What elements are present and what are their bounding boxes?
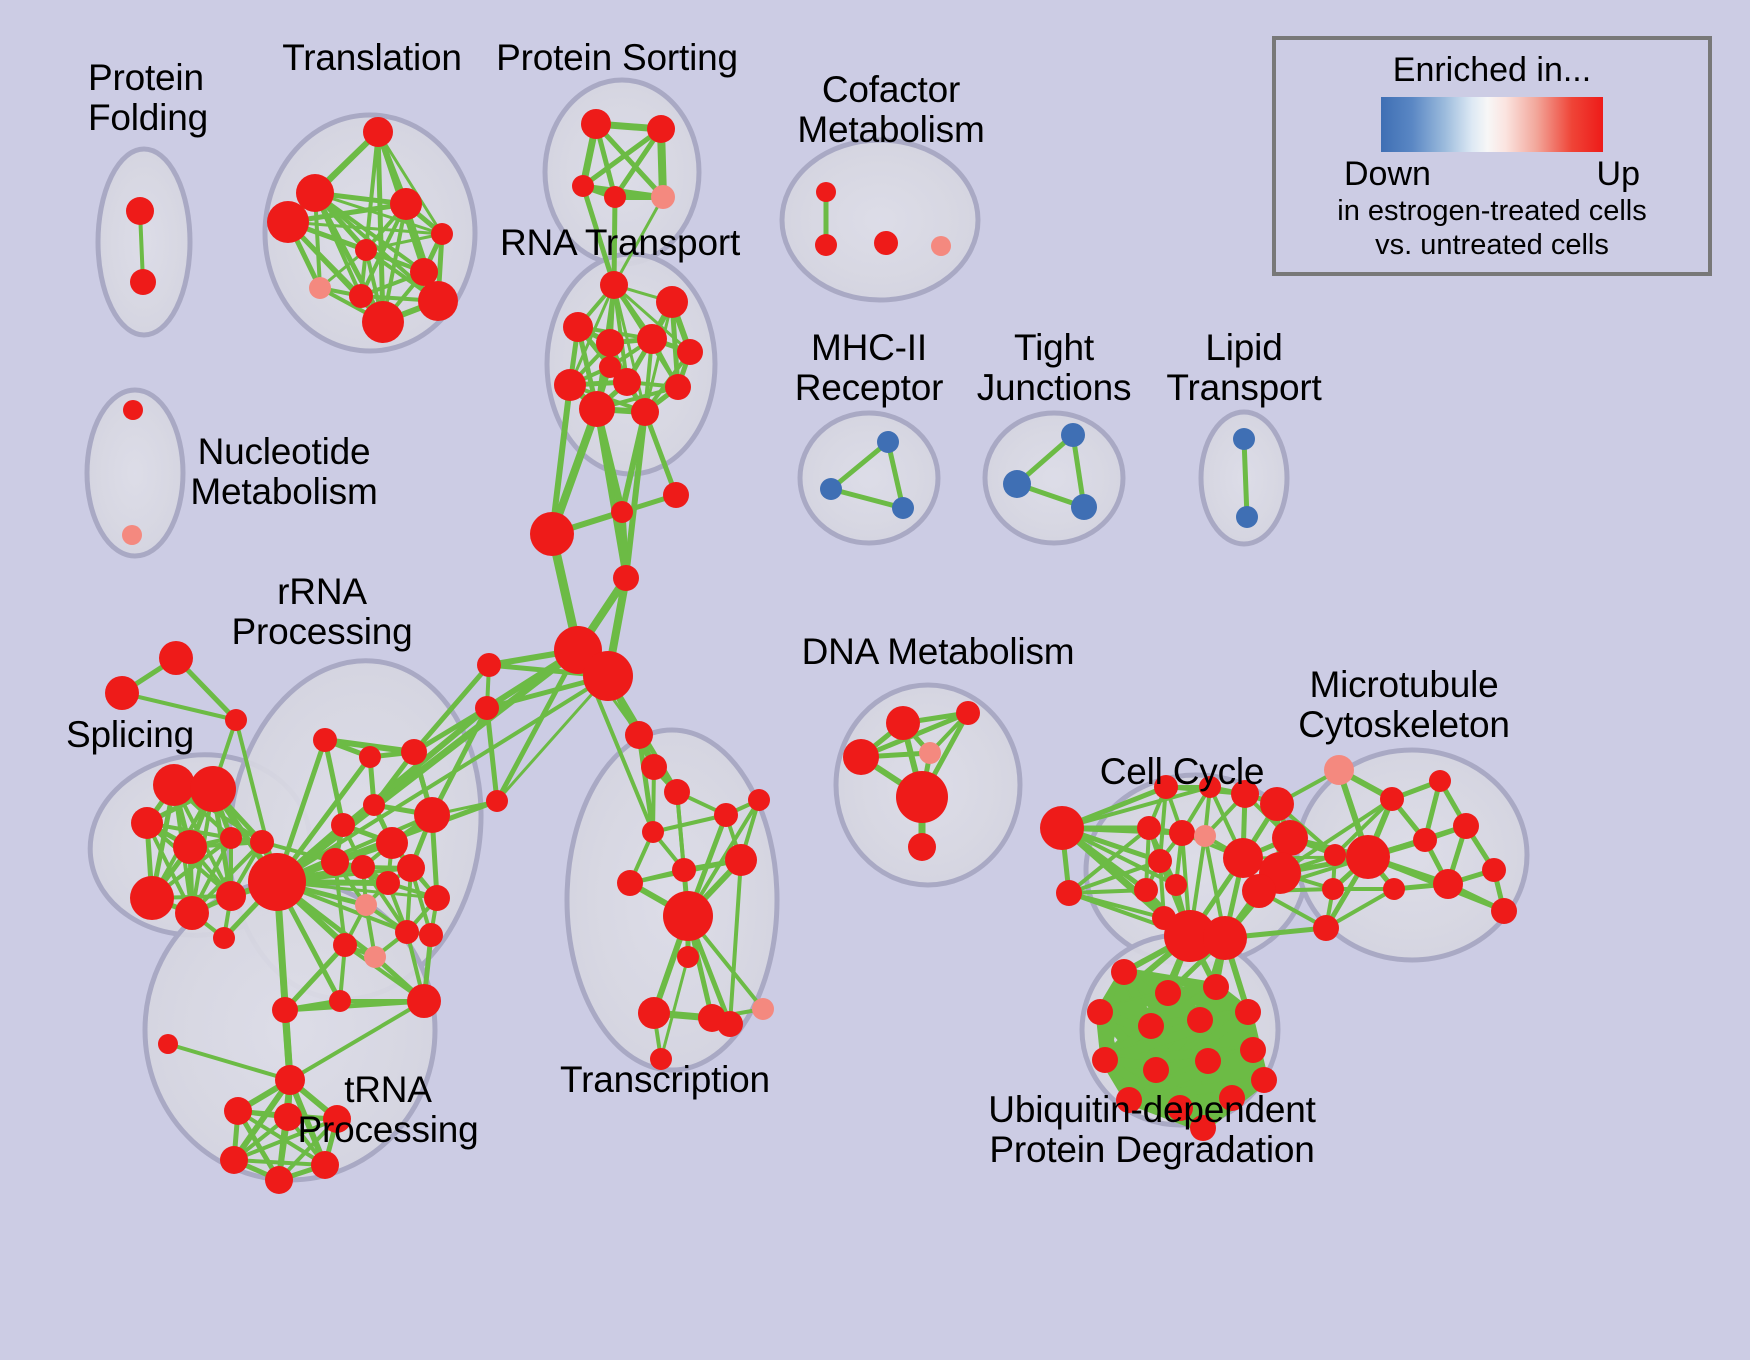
network-node[interactable] <box>820 478 842 500</box>
cluster-label-trna-processing: tRNAProcessing <box>297 1070 478 1150</box>
network-node[interactable] <box>611 501 633 523</box>
network-node[interactable] <box>1092 1047 1118 1073</box>
network-node[interactable] <box>1260 787 1294 821</box>
network-node[interactable] <box>122 525 142 545</box>
network-node[interactable] <box>874 231 898 255</box>
pathway-network-figure: ProteinFoldingTranslationProtein Sorting… <box>0 0 1750 1360</box>
network-node[interactable] <box>224 1097 252 1125</box>
network-node[interactable] <box>265 1166 293 1194</box>
network-node[interactable] <box>530 512 574 556</box>
cluster-label-line: Junctions <box>977 368 1132 408</box>
network-node[interactable] <box>725 844 757 876</box>
legend-subtitle-line-2: vs. untreated cells <box>1375 229 1609 262</box>
cluster-label-protein-sorting: Protein Sorting <box>496 38 738 78</box>
network-node[interactable] <box>1111 959 1137 985</box>
network-node[interactable] <box>123 400 143 420</box>
network-node[interactable] <box>364 946 386 968</box>
network-node[interactable] <box>126 197 154 225</box>
network-node[interactable] <box>1134 878 1158 902</box>
network-node[interactable] <box>1346 835 1390 879</box>
network-node[interactable] <box>641 754 667 780</box>
cluster-label-line: Nucleotide <box>190 432 377 472</box>
cluster-label-line: Splicing <box>66 715 194 755</box>
network-node[interactable] <box>877 431 899 453</box>
network-node[interactable] <box>677 339 703 365</box>
network-node[interactable] <box>1203 974 1229 1000</box>
network-node[interactable] <box>1453 813 1479 839</box>
network-node[interactable] <box>1383 878 1405 900</box>
network-node[interactable] <box>572 175 594 197</box>
network-node[interactable] <box>1003 470 1031 498</box>
network-node[interactable] <box>581 109 611 139</box>
network-node[interactable] <box>349 284 373 308</box>
network-node[interactable] <box>672 858 696 882</box>
cluster-label-line: Metabolism <box>797 110 984 150</box>
cluster-label-line: Lipid <box>1166 328 1321 368</box>
network-node[interactable] <box>656 286 688 318</box>
network-node[interactable] <box>1242 874 1276 908</box>
network-node[interactable] <box>1194 825 1216 847</box>
network-node[interactable] <box>613 565 639 591</box>
cluster-label-cell-cycle: Cell Cycle <box>1100 752 1265 792</box>
network-node[interactable] <box>1143 1057 1169 1083</box>
network-node[interactable] <box>267 201 309 243</box>
network-node[interactable] <box>175 896 209 930</box>
network-node[interactable] <box>698 1004 726 1032</box>
network-node[interactable] <box>1482 858 1506 882</box>
network-node[interactable] <box>1429 770 1451 792</box>
cluster-label-line: Ubiquitin-dependent <box>988 1090 1315 1130</box>
network-node[interactable] <box>1223 838 1263 878</box>
network-node[interactable] <box>956 701 980 725</box>
network-node[interactable] <box>1071 494 1097 520</box>
network-node[interactable] <box>919 742 941 764</box>
network-node[interactable] <box>213 927 235 949</box>
cluster-label-line: Translation <box>282 38 461 78</box>
network-node[interactable] <box>1061 423 1085 447</box>
cluster-label-line: Metabolism <box>190 472 377 512</box>
network-node[interactable] <box>362 301 404 343</box>
network-node[interactable] <box>351 855 375 879</box>
network-node[interactable] <box>1433 869 1463 899</box>
network-node[interactable] <box>563 312 593 342</box>
network-node[interactable] <box>376 871 400 895</box>
network-node[interactable] <box>1203 916 1247 960</box>
cofactor-ellipse <box>782 140 978 300</box>
network-node[interactable] <box>130 876 174 920</box>
network-node[interactable] <box>250 830 274 854</box>
network-node[interactable] <box>225 709 247 731</box>
network-node[interactable] <box>647 115 675 143</box>
network-node[interactable] <box>1240 1037 1266 1063</box>
network-node[interactable] <box>1138 1013 1164 1039</box>
network-node[interactable] <box>475 696 499 720</box>
network-node[interactable] <box>363 117 393 147</box>
cluster-label-line: Microtubule <box>1298 665 1510 705</box>
network-node[interactable] <box>604 186 626 208</box>
cluster-label-protein-folding: ProteinFolding <box>88 58 208 138</box>
network-node[interactable] <box>625 721 653 749</box>
network-node[interactable] <box>1165 874 1187 896</box>
network-edge <box>1244 439 1247 517</box>
cluster-label-dna-metabolism: DNA Metabolism <box>802 632 1075 672</box>
network-node[interactable] <box>363 794 385 816</box>
network-node[interactable] <box>886 706 920 740</box>
network-node[interactable] <box>752 998 774 1020</box>
network-node[interactable] <box>892 497 914 519</box>
network-node[interactable] <box>1324 755 1354 785</box>
network-node[interactable] <box>1413 828 1437 852</box>
cluster-label-line: MHC-II <box>795 328 944 368</box>
network-node[interactable] <box>1148 849 1172 873</box>
network-node[interactable] <box>220 1146 248 1174</box>
cluster-label-tight-junctions: TightJunctions <box>977 328 1132 408</box>
network-node[interactable] <box>1155 980 1181 1006</box>
network-node[interactable] <box>272 997 298 1023</box>
legend-low-label: Down <box>1344 155 1431 194</box>
network-node[interactable] <box>397 854 425 882</box>
network-node[interactable] <box>431 223 453 245</box>
network-node[interactable] <box>600 271 628 299</box>
network-node[interactable] <box>1313 915 1339 941</box>
network-node[interactable] <box>599 356 621 378</box>
network-node[interactable] <box>596 329 624 357</box>
cluster-label-line: Cofactor <box>797 70 984 110</box>
protein-folding-ellipse <box>98 149 190 335</box>
legend-title: Enriched in... <box>1393 51 1591 90</box>
network-node[interactable] <box>1233 428 1255 450</box>
network-node[interactable] <box>313 728 337 752</box>
network-node[interactable] <box>931 236 951 256</box>
cluster-label-line: rRNA <box>231 572 412 612</box>
network-node[interactable] <box>665 374 691 400</box>
cluster-label-transcription: Transcription <box>560 1060 770 1100</box>
network-node[interactable] <box>355 894 377 916</box>
cluster-label-cofactor-metabolism: CofactorMetabolism <box>797 70 984 150</box>
legend-high-label: Up <box>1597 155 1640 194</box>
network-node[interactable] <box>664 779 690 805</box>
network-node[interactable] <box>748 789 770 811</box>
network-node[interactable] <box>401 739 427 765</box>
cluster-label-line: Protein Degradation <box>988 1130 1315 1170</box>
network-node[interactable] <box>158 1034 178 1054</box>
network-node[interactable] <box>617 870 643 896</box>
mhc-ii-ellipse <box>800 413 938 543</box>
cluster-label-line: Processing <box>231 612 412 652</box>
network-node[interactable] <box>359 746 381 768</box>
cluster-label-line: Protein <box>88 58 208 98</box>
cluster-label-ubiquitin-degradation: Ubiquitin-dependentProtein Degradation <box>988 1090 1315 1170</box>
network-node[interactable] <box>1087 999 1113 1025</box>
network-node[interactable] <box>173 830 207 864</box>
network-node[interactable] <box>583 651 633 701</box>
network-node[interactable] <box>554 369 586 401</box>
cluster-label-rna-transport: RNA Transport <box>500 223 740 263</box>
network-node[interactable] <box>714 803 738 827</box>
network-node[interactable] <box>311 1151 339 1179</box>
network-node[interactable] <box>1195 1048 1221 1074</box>
cluster-label-line: Protein Sorting <box>496 38 738 78</box>
network-node[interactable] <box>220 827 242 849</box>
network-node[interactable] <box>414 797 450 833</box>
network-node[interactable] <box>843 739 879 775</box>
cluster-label-line: Processing <box>297 1110 478 1150</box>
network-node[interactable] <box>637 324 667 354</box>
network-node[interactable] <box>130 269 156 295</box>
legend-subtitle-line-1: in estrogen-treated cells <box>1337 195 1647 228</box>
network-node[interactable] <box>105 676 139 710</box>
network-node[interactable] <box>1324 844 1346 866</box>
network-node[interactable] <box>1056 880 1082 906</box>
network-node[interactable] <box>1236 506 1258 528</box>
network-node[interactable] <box>159 641 193 675</box>
network-node[interactable] <box>1491 898 1517 924</box>
cluster-label-lipid-transport: LipidTransport <box>1166 328 1321 408</box>
network-node[interactable] <box>407 984 441 1018</box>
network-node[interactable] <box>419 923 443 947</box>
legend-endpoint-labels: Down Up <box>1344 155 1640 194</box>
network-node[interactable] <box>321 848 349 876</box>
network-node[interactable] <box>131 807 163 839</box>
network-node[interactable] <box>418 281 458 321</box>
cluster-label-splicing: Splicing <box>66 715 194 755</box>
cluster-label-line: DNA Metabolism <box>802 632 1075 672</box>
legend-color-bar <box>1381 97 1603 152</box>
cluster-label-line: Transport <box>1166 368 1321 408</box>
legend-box: Enriched in... Down Up in estrogen-treat… <box>1272 36 1712 276</box>
network-node[interactable] <box>663 482 689 508</box>
network-node[interactable] <box>390 188 422 220</box>
network-node[interactable] <box>815 234 837 256</box>
cluster-label-line: Receptor <box>795 368 944 408</box>
network-node[interactable] <box>1380 787 1404 811</box>
network-node[interactable] <box>486 790 508 812</box>
network-node[interactable] <box>309 277 331 299</box>
network-node[interactable] <box>376 827 408 859</box>
network-node[interactable] <box>651 185 675 209</box>
network-node[interactable] <box>333 933 357 957</box>
network-node[interactable] <box>677 946 699 968</box>
network-node[interactable] <box>816 182 836 202</box>
network-node[interactable] <box>638 997 670 1029</box>
network-node[interactable] <box>663 891 713 941</box>
network-node[interactable] <box>908 833 936 861</box>
cluster-label-translation: Translation <box>282 38 461 78</box>
cluster-label-rrna-processing: rRNAProcessing <box>231 572 412 652</box>
cluster-label-line: Cytoskeleton <box>1298 705 1510 745</box>
network-node[interactable] <box>424 885 450 911</box>
cluster-label-line: Cell Cycle <box>1100 752 1265 792</box>
cluster-label-line: Folding <box>88 98 208 138</box>
network-node[interactable] <box>1040 806 1084 850</box>
network-node[interactable] <box>1137 816 1161 840</box>
network-node[interactable] <box>248 853 306 911</box>
network-node[interactable] <box>896 771 948 823</box>
network-node[interactable] <box>1235 999 1261 1025</box>
network-node[interactable] <box>1322 878 1344 900</box>
cluster-label-line: tRNA <box>297 1070 478 1110</box>
network-node[interactable] <box>395 920 419 944</box>
network-node[interactable] <box>355 239 377 261</box>
cluster-label-microtubule-cytoskeleton: MicrotubuleCytoskeleton <box>1298 665 1510 745</box>
network-node[interactable] <box>153 764 195 806</box>
cluster-label-nucleotide-metabolism: NucleotideMetabolism <box>190 432 377 512</box>
cluster-label-line: RNA Transport <box>500 223 740 263</box>
network-node[interactable] <box>216 881 246 911</box>
network-node[interactable] <box>579 391 615 427</box>
network-node[interactable] <box>631 398 659 426</box>
network-node[interactable] <box>190 766 236 812</box>
cluster-label-line: Transcription <box>560 1060 770 1100</box>
network-node[interactable] <box>1169 820 1195 846</box>
network-node[interactable] <box>477 653 501 677</box>
network-node[interactable] <box>642 821 664 843</box>
network-node[interactable] <box>331 813 355 837</box>
cluster-label-line: Tight <box>977 328 1132 368</box>
network-node[interactable] <box>1272 820 1308 856</box>
network-node[interactable] <box>1187 1007 1213 1033</box>
network-node[interactable] <box>329 990 351 1012</box>
cluster-label-mhc-ii-receptor: MHC-IIReceptor <box>795 328 944 408</box>
